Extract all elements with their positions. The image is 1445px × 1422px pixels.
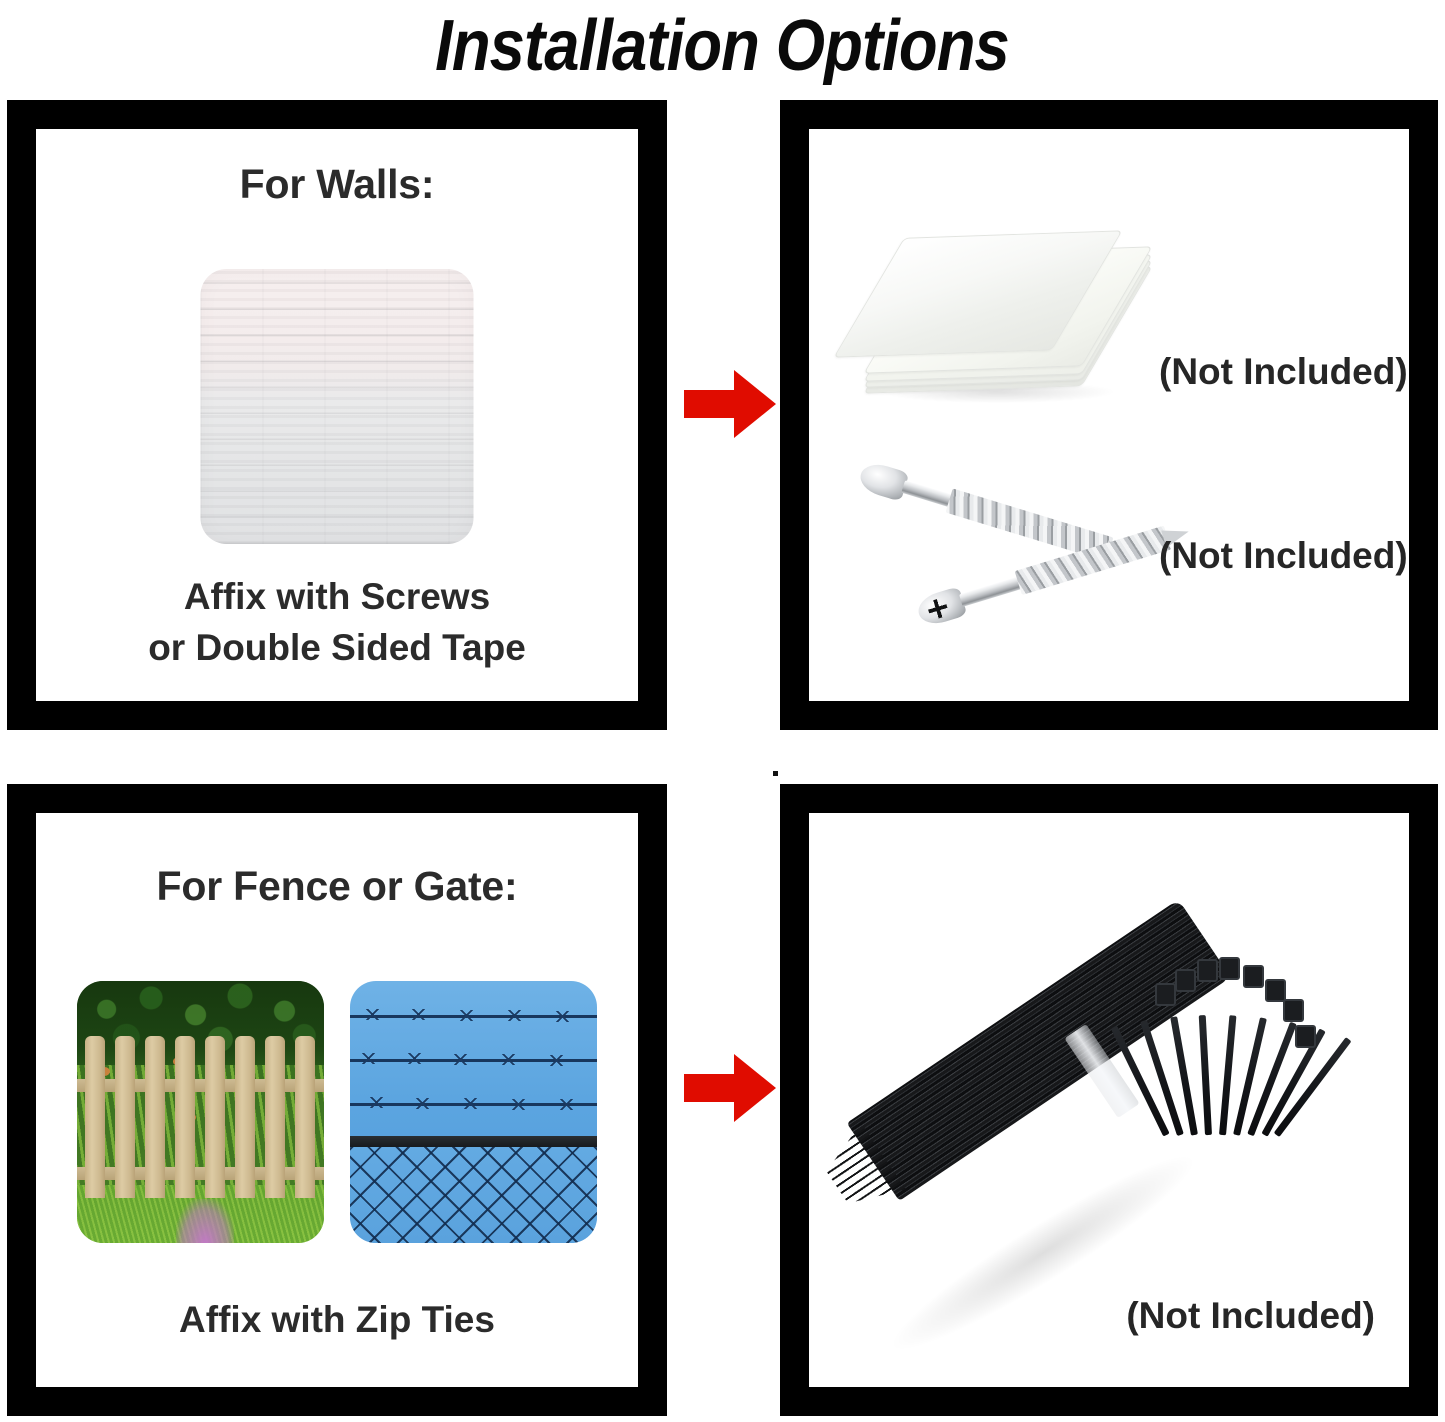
- screw-head: [857, 460, 910, 502]
- zip-tie-head: [1197, 959, 1218, 982]
- for-walls-caption: Affix with Screws or Double Sided Tape: [36, 571, 638, 673]
- fence-picket: [205, 1036, 225, 1198]
- zip-tie-head: [1175, 969, 1196, 992]
- barb: [560, 1099, 573, 1110]
- for-walls-caption-line1: Affix with Screws: [36, 571, 638, 622]
- zip-tie-head: [1265, 979, 1286, 1002]
- fence-picket: [175, 1036, 195, 1198]
- barb: [412, 1009, 425, 1020]
- red-right-arrow-icon-top: [684, 368, 776, 440]
- barb: [502, 1054, 515, 1065]
- barb: [550, 1055, 563, 1066]
- tape-not-included-label: (Not Included): [1159, 351, 1408, 393]
- screw-shank: [959, 576, 1024, 607]
- barb: [362, 1053, 375, 1064]
- barb: [366, 1009, 379, 1020]
- screw-shank: [901, 480, 955, 508]
- barb: [464, 1098, 477, 1109]
- for-walls-caption-line2: or Double Sided Tape: [36, 622, 638, 673]
- fence-photo-row: [36, 981, 638, 1243]
- zip-ties-not-included-label: (Not Included): [1126, 1295, 1375, 1337]
- zip-tie-strand: [1199, 1015, 1212, 1135]
- barb: [508, 1010, 521, 1021]
- fence-picket: [265, 1036, 285, 1198]
- for-walls-heading: For Walls:: [36, 161, 638, 208]
- barb: [370, 1097, 383, 1108]
- picket-group: [77, 981, 324, 1243]
- chain-link-mesh: [350, 1147, 597, 1243]
- screw-head: [915, 586, 968, 628]
- fence-picket: [295, 1036, 315, 1198]
- panel-fence-hardware-content: (Not Included): [809, 813, 1409, 1387]
- fence-picket: [145, 1036, 165, 1198]
- panel-wall-hardware-content: (Not Included) (Not Included): [809, 129, 1409, 701]
- zip-tie-head-fan: [1153, 935, 1323, 1135]
- panel-wall-hardware: (Not Included) (Not Included): [780, 100, 1438, 730]
- barb: [512, 1099, 525, 1110]
- zip-tie-head: [1155, 983, 1176, 1006]
- panel-for-walls-content: For Walls: Affix with Screws or Double S…: [36, 129, 638, 701]
- zip-tie-strand: [1233, 1017, 1267, 1135]
- barb: [454, 1054, 467, 1065]
- panel-for-fence-content: For Fence or Gate:: [36, 813, 638, 1387]
- panel-for-fence-or-gate: For Fence or Gate:: [7, 784, 667, 1416]
- wooden-picket-fence-photo: [77, 981, 324, 1243]
- white-brick-wall-photo: [201, 269, 474, 544]
- screws-not-included-label: (Not Included): [1159, 535, 1408, 577]
- barb: [556, 1011, 569, 1022]
- zip-tie-head: [1295, 1025, 1316, 1048]
- for-fence-caption: Affix with Zip Ties: [36, 1294, 638, 1345]
- zip-tie-head: [1283, 999, 1304, 1022]
- for-fence-heading: For Fence or Gate:: [36, 863, 638, 910]
- chain-link-barbed-wire-fence-photo: [350, 981, 597, 1243]
- fence-picket: [85, 1036, 105, 1198]
- zip-tie-head: [1219, 957, 1240, 980]
- phillips-cross-icon: [926, 597, 950, 621]
- double-sided-tape-stack: [871, 234, 1121, 399]
- barb: [408, 1053, 421, 1064]
- zip-tie-strand: [1219, 1015, 1236, 1135]
- panel-fence-hardware: (Not Included): [780, 784, 1438, 1416]
- barb: [416, 1098, 429, 1109]
- fence-picket: [115, 1036, 135, 1198]
- fence-picket: [235, 1036, 255, 1198]
- print-artifact-dot: [773, 771, 778, 776]
- panel-for-walls: For Walls: Affix with Screws or Double S…: [7, 100, 667, 730]
- zip-tie-head: [1243, 965, 1264, 988]
- red-right-arrow-icon-bottom: [684, 1052, 776, 1124]
- page-title: Installation Options: [436, 10, 1010, 82]
- page-title-bar: Installation Options: [0, 0, 1445, 92]
- barb: [460, 1010, 473, 1021]
- black-zip-tie-bundle: [853, 925, 1323, 1325]
